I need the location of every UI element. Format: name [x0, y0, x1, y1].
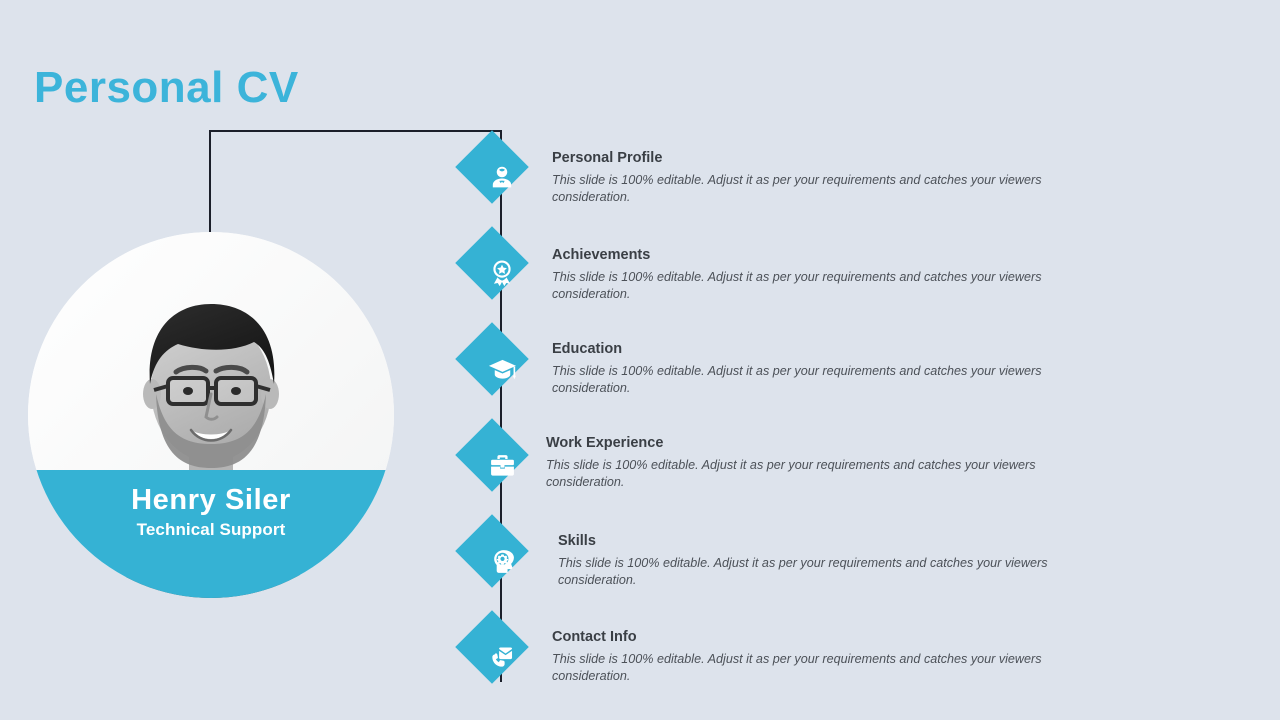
timeline-heading: Achievements — [552, 247, 1072, 264]
timeline-body: This slide is 100% editable. Adjust it a… — [552, 172, 1072, 205]
connector-line-vertical-photo — [209, 131, 211, 243]
timeline-heading: Work Experience — [546, 435, 1066, 452]
diamond-badge — [455, 514, 529, 588]
timeline-body: This slide is 100% editable. Adjust it a… — [552, 651, 1072, 684]
timeline-body: This slide is 100% editable. Adjust it a… — [558, 555, 1078, 588]
timeline-text: Personal Profile This slide is 100% edit… — [552, 150, 1072, 206]
connector-line-horizontal — [209, 130, 502, 132]
page-title: Personal CV — [34, 64, 299, 112]
timeline-heading: Personal Profile — [552, 150, 1072, 167]
timeline-heading: Education — [552, 341, 1072, 358]
timeline-item-education[interactable]: Education This slide is 100% editable. A… — [466, 333, 1086, 405]
diamond-badge — [455, 226, 529, 300]
timeline-item-achievements[interactable]: Achievements This slide is 100% editable… — [466, 237, 1086, 309]
timeline-text: Skills This slide is 100% editable. Adju… — [558, 533, 1078, 589]
timeline-text: Achievements This slide is 100% editable… — [552, 247, 1072, 303]
timeline-item-personal-profile[interactable]: Personal Profile This slide is 100% edit… — [466, 141, 1086, 213]
diamond-badge — [455, 130, 529, 204]
timeline-text: Education This slide is 100% editable. A… — [552, 341, 1072, 397]
timeline-item-work-experience[interactable]: Work Experience This slide is 100% edita… — [466, 429, 1086, 501]
timeline-text: Work Experience This slide is 100% edita… — [546, 435, 1066, 491]
profile-name: Henry Siler — [28, 484, 394, 517]
timeline-item-skills[interactable]: Skills This slide is 100% editable. Adju… — [466, 525, 1086, 597]
timeline-text: Contact Info This slide is 100% editable… — [552, 629, 1072, 685]
timeline-body: This slide is 100% editable. Adjust it a… — [552, 269, 1072, 302]
profile-card: Henry Siler Technical Support — [28, 232, 394, 598]
profile-name-band: Henry Siler Technical Support — [28, 470, 394, 598]
timeline-body: This slide is 100% editable. Adjust it a… — [552, 363, 1072, 396]
timeline-heading: Contact Info — [552, 629, 1072, 646]
diamond-badge — [455, 322, 529, 396]
cv-slide: Personal CV — [0, 0, 1280, 720]
timeline-heading: Skills — [558, 533, 1078, 550]
timeline-body: This slide is 100% editable. Adjust it a… — [546, 457, 1066, 490]
timeline-item-contact-info[interactable]: Contact Info This slide is 100% editable… — [466, 621, 1086, 693]
profile-role: Technical Support — [28, 520, 394, 540]
diamond-badge — [455, 418, 529, 492]
diamond-badge — [455, 610, 529, 684]
